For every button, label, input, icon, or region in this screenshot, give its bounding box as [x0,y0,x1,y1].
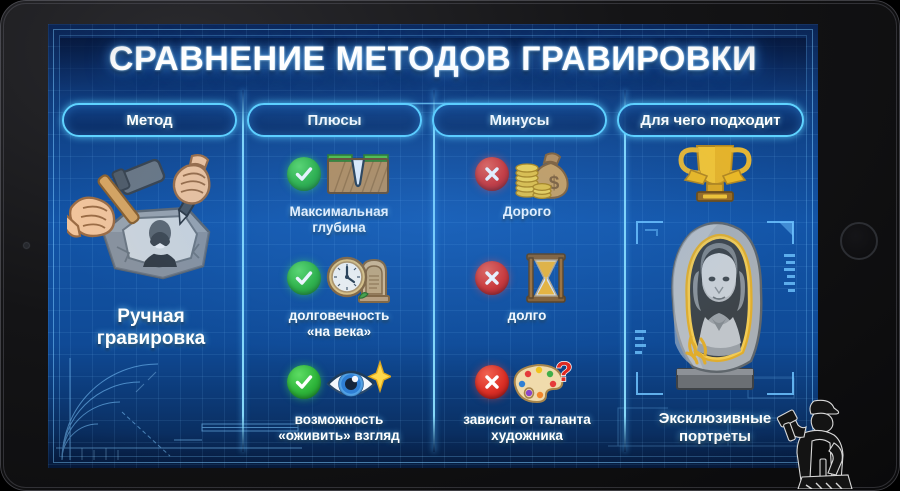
gold-trophy-icon [669,142,761,208]
artist-palette-question-mark-icon: ? [513,356,579,408]
check-icon [287,261,321,295]
header-cons-label: Минусы [490,112,550,129]
list-item: Максимальная глубина [250,146,428,244]
pros-list: Максимальная глубина [250,142,428,452]
column-suitable-for: Эксклюзивные портреты [626,142,804,456]
header-cons[interactable]: Минусы [432,103,607,137]
svg-text:?: ? [555,357,572,387]
list-item: возможность «оживить» взгляд [250,354,428,452]
header-suitable-for[interactable]: Для чего подходит [617,103,804,137]
header-suitable-for-label: Для чего подходит [640,112,780,129]
header-method[interactable]: Метод [62,103,237,137]
clock-and-tombstone-icon [325,252,391,304]
list-item: долговечность «на века» [250,250,428,348]
hud-corner-brackets-decoration [629,210,801,406]
list-item-label: Дорого [501,204,553,220]
method-label: Ручная гравировка [97,306,205,350]
cons-list: $ [438,142,616,452]
check-icon [287,365,321,399]
hourglass-icon [513,252,579,304]
column-cons: $ [438,142,616,456]
cross-icon [475,261,509,295]
column-headers-row: Метод Плюсы Минусы Для чего подходит [62,103,804,137]
infographic-screen: СРАВНЕНИЕ МЕТОДОВ ГРАВИРОВКИ Метод Плюсы… [48,24,818,468]
cross-icon [475,365,509,399]
v-groove-depth-cross-section-icon [325,148,391,200]
home-button[interactable] [840,222,878,260]
list-item-label: зависит от таланта художника [461,412,593,444]
portrait-hud-frame [629,210,801,406]
list-item: ? зависит от таланта художника [438,354,616,452]
tablet-device-frame: СРАВНЕНИЕ МЕТОДОВ ГРАВИРОВКИ Метод Плюсы… [0,0,900,491]
check-icon [287,157,321,191]
header-pros[interactable]: Плюсы [247,103,422,137]
eye-with-sparkle-icon [325,356,391,408]
list-item: долго [438,250,616,348]
front-camera-icon [24,243,29,248]
money-bag-with-coins-icon: $ [513,148,579,200]
page-title: СРАВНЕНИЕ МЕТОДОВ ГРАВИРОВКИ [48,40,818,79]
list-item-label: возможность «оживить» взгляд [276,412,402,444]
column-pros: Максимальная глубина [250,142,428,456]
list-item-label: долговечность «на века» [287,308,392,340]
cross-icon [475,157,509,191]
list-item: $ [438,146,616,244]
hand-engraving-hammer-chisel-stone-portrait-icon [67,148,235,298]
list-item-label: долго [506,308,549,324]
header-pros-label: Плюсы [307,112,361,129]
list-item-label: Максимальная глубина [287,204,390,236]
suitable-for-label: Эксклюзивные портреты [659,410,771,445]
header-method-label: Метод [126,112,172,129]
comparison-columns: Ручная гравировка [62,142,804,456]
column-method: Ручная гравировка [62,142,240,456]
